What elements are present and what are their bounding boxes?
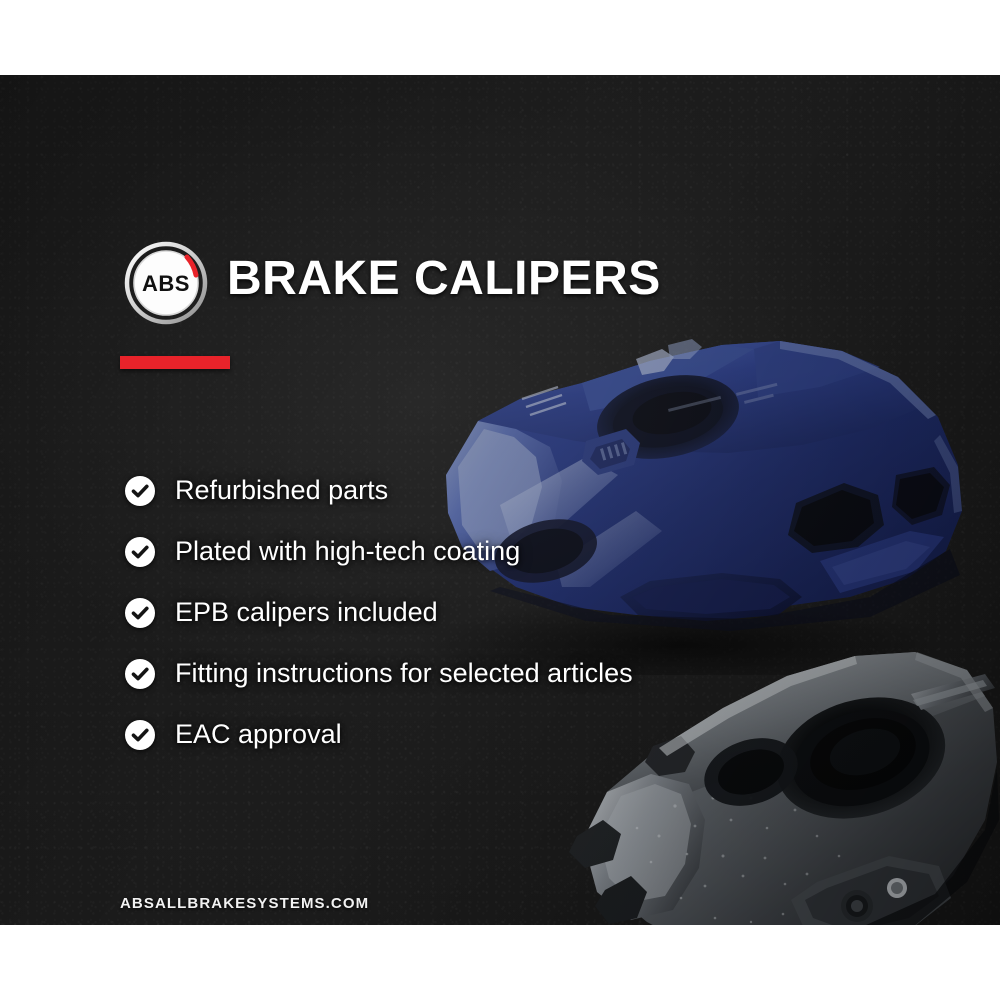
list-item: Plated with high-tech coating — [124, 521, 824, 582]
page-title: BRAKE CALIPERS — [227, 251, 661, 307]
feature-label: Plated with high-tech coating — [175, 536, 520, 567]
feature-list: Refurbished parts Plated with high-tech … — [124, 460, 824, 765]
check-circle-icon — [124, 536, 156, 568]
feature-label: EPB calipers included — [175, 597, 438, 628]
promo-banner-canvas: ABS BRAKE CALIPERS Refurbished parts — [0, 0, 1000, 1000]
list-item: EAC approval — [124, 704, 824, 765]
list-item: Fitting instructions for selected articl… — [124, 643, 824, 704]
abs-logo: ABS — [124, 241, 208, 325]
accent-rule — [120, 356, 230, 369]
check-circle-icon — [124, 475, 156, 507]
check-circle-icon — [124, 597, 156, 629]
check-circle-icon — [124, 719, 156, 751]
feature-label: Fitting instructions for selected articl… — [175, 658, 633, 689]
svg-text:ABS: ABS — [142, 271, 190, 296]
feature-label: EAC approval — [175, 719, 342, 750]
website-url: ABSALLBRAKESYSTEMS.COM — [120, 895, 369, 912]
feature-label: Refurbished parts — [175, 475, 388, 506]
list-item: Refurbished parts — [124, 460, 824, 521]
list-item: EPB calipers included — [124, 582, 824, 643]
check-circle-icon — [124, 658, 156, 690]
dark-banner: ABS BRAKE CALIPERS Refurbished parts — [0, 75, 1000, 925]
